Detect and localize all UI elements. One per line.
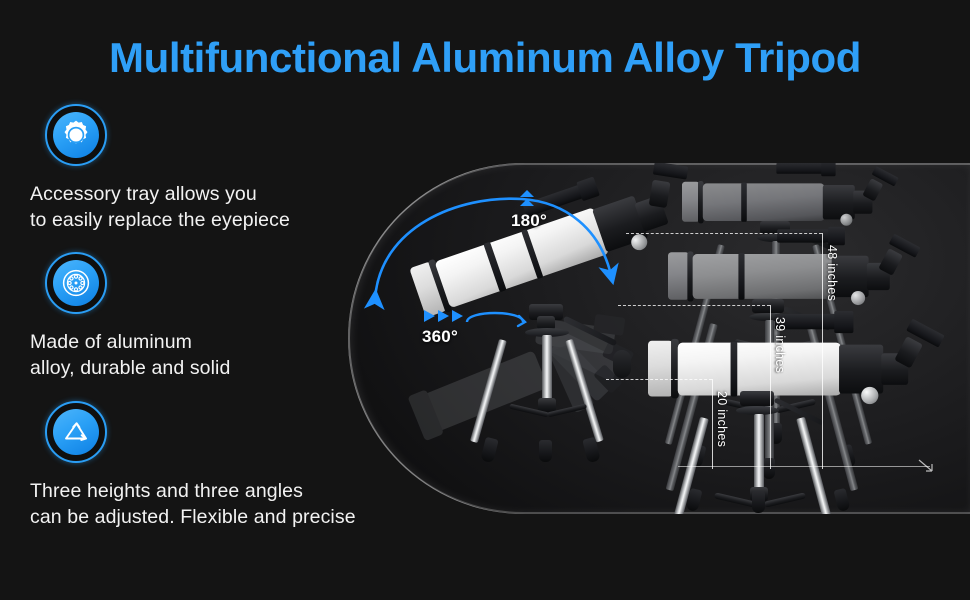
height-label-20: 20 inches: [715, 391, 729, 447]
ground-reference-line: [678, 466, 930, 467]
dim-leader-20: [606, 379, 712, 380]
feature-text-2-line2: alloy, durable and solid: [30, 356, 230, 382]
dim-line-48: [822, 233, 823, 469]
feature-text-3-line1: Three heights and three angles: [30, 479, 356, 505]
double-up-triangle-icon: [518, 190, 536, 210]
dim-line-39: [770, 305, 771, 469]
feature-text-1-line1: Accessory tray allows you: [30, 182, 290, 208]
height-label-39: 39 inches: [773, 317, 787, 373]
double-headed-arc-arrow-icon: [362, 185, 622, 315]
dim-leader-48: [626, 233, 822, 234]
feature-text-1: Accessory tray allows you to easily repl…: [30, 182, 290, 234]
feature-text-2: Made of aluminum alloy, durable and soli…: [30, 330, 230, 382]
product-photo-panel: 180° 360°: [348, 163, 970, 514]
feature-text-3-line2: can be adjusted. Flexible and precise: [30, 505, 356, 531]
tilt-range-label: 180°: [511, 211, 547, 231]
dim-line-20: [712, 379, 713, 469]
feature-icon-ring-1: [45, 104, 107, 166]
infographic-canvas: Multifunctional Aluminum Alloy Tripod Ac…: [0, 0, 970, 600]
feature-item-aluminum-alloy: Made of aluminum alloy, durable and soli…: [30, 252, 230, 382]
feature-text-2-line1: Made of aluminum: [30, 330, 230, 356]
pan-range-label: 360°: [422, 327, 458, 347]
rotation-ring-arrow-icon: [463, 311, 527, 333]
feature-text-3: Three heights and three angles can be ad…: [30, 479, 356, 531]
badge-check-icon: [53, 112, 99, 158]
page-title: Multifunctional Aluminum Alloy Tripod: [0, 34, 970, 82]
feature-text-1-line2: to easily replace the eyepiece: [30, 208, 290, 234]
feature-icon-ring-2: [45, 252, 107, 314]
feature-item-adjustable-heights: Three heights and three angles can be ad…: [30, 401, 356, 531]
height-label-48: 48 inches: [825, 245, 839, 301]
feature-icon-ring-3: [45, 401, 107, 463]
angle-triangle-icon: [53, 409, 99, 455]
triple-right-triangle-icon: [424, 309, 468, 323]
dim-leader-39: [618, 305, 770, 306]
feature-item-accessory-tray: Accessory tray allows you to easily repl…: [30, 104, 290, 234]
alloy-wheel-icon: [53, 260, 99, 306]
ground-arrow-icon: [918, 459, 936, 475]
